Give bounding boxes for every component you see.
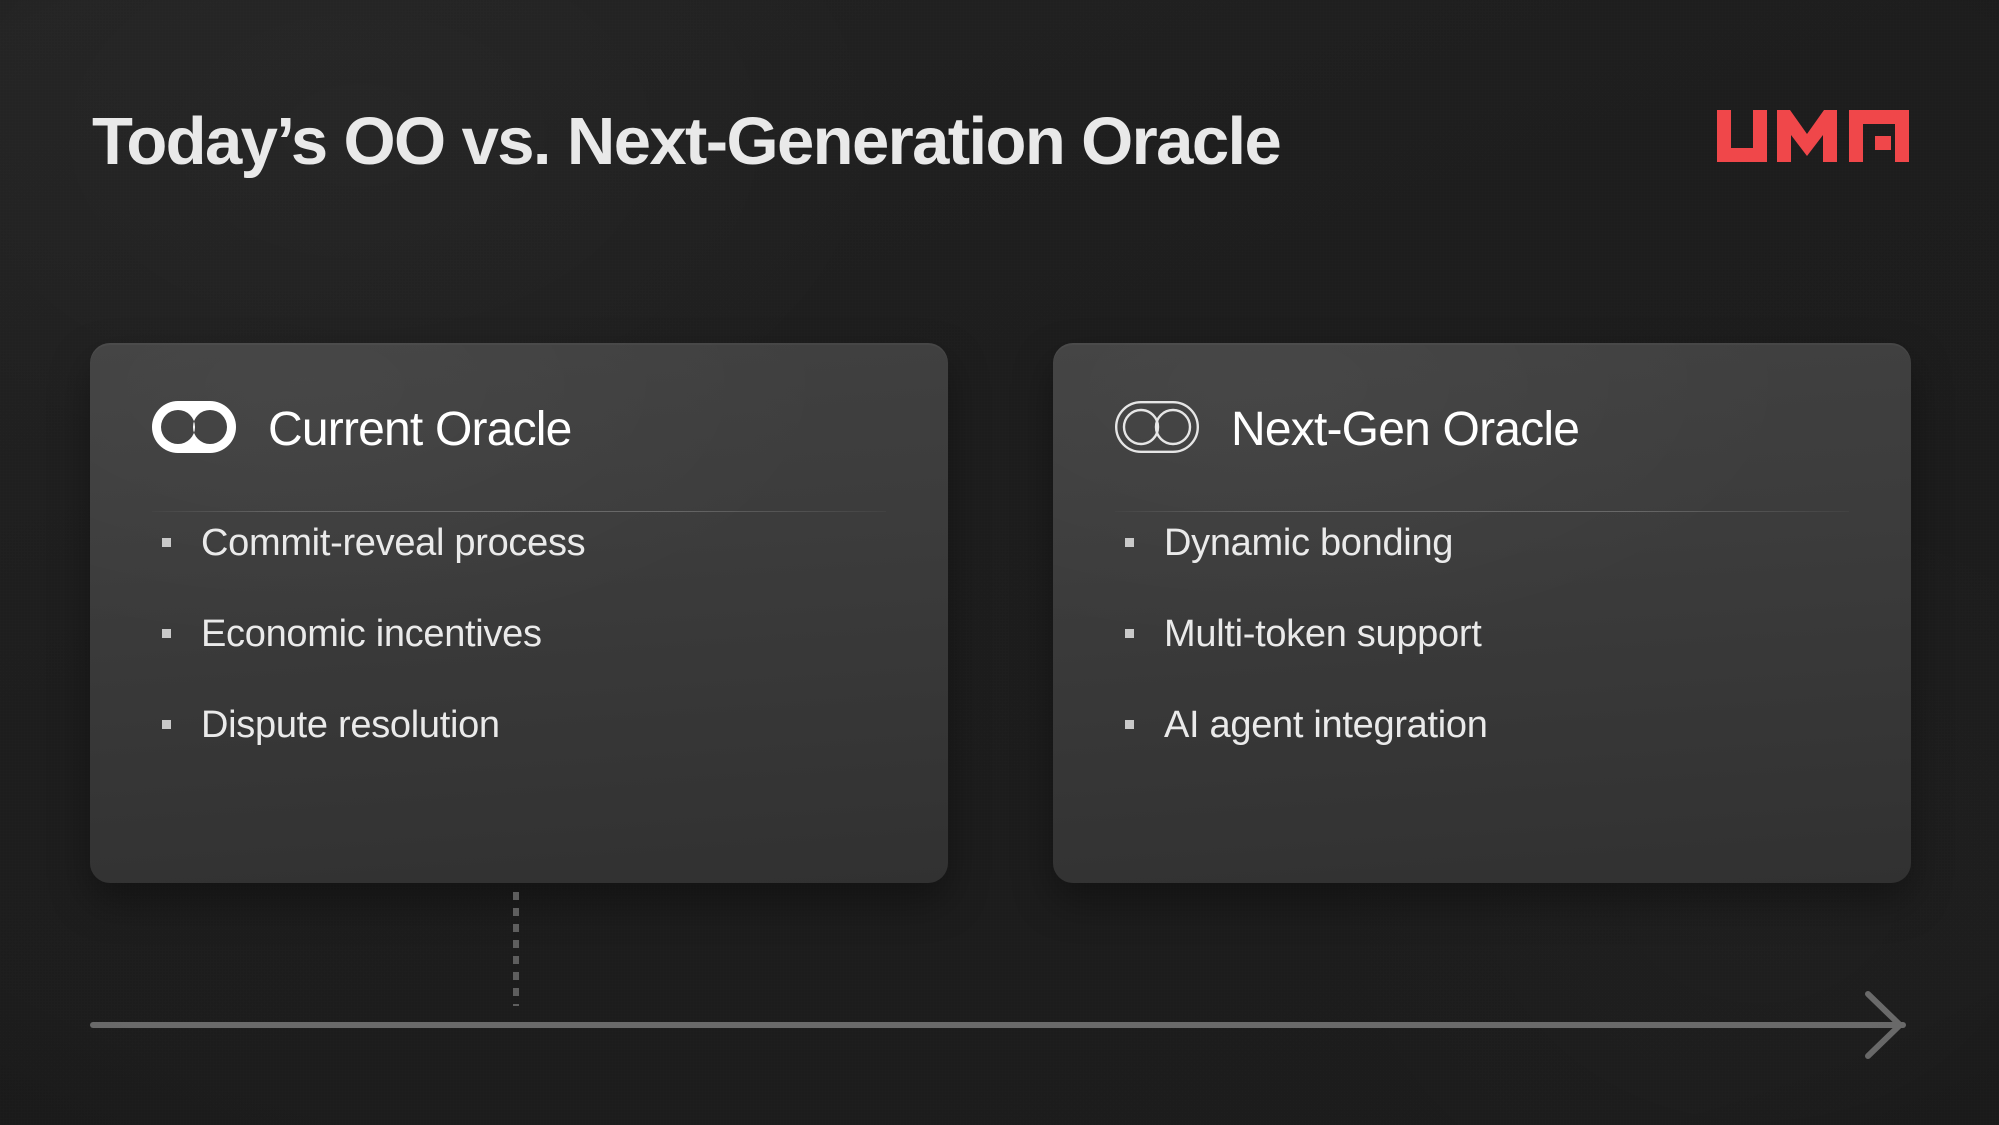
card-title: Current Oracle: [268, 402, 572, 457]
bullet-square-icon: [1125, 538, 1134, 547]
card-header: Next-Gen Oracle: [1053, 343, 1911, 458]
uma-logo: [1717, 110, 1909, 162]
list-item-label: Dynamic bonding: [1164, 522, 1453, 565]
timeline-arrow-right-icon: [1862, 988, 1908, 1062]
list-item-label: Economic incentives: [201, 613, 542, 656]
page-title: Today’s OO vs. Next-Generation Oracle: [92, 103, 1280, 180]
bullet-square-icon: [162, 538, 171, 547]
list-item: Dynamic bonding: [1125, 522, 1911, 565]
feature-list: Dynamic bonding Multi-token support AI a…: [1053, 458, 1911, 747]
uma-wordmark-logo-icon: [1717, 110, 1909, 162]
bullet-square-icon: [1125, 720, 1134, 729]
list-item: Commit-reveal process: [162, 522, 948, 565]
bullet-square-icon: [1125, 629, 1134, 638]
list-item-label: Multi-token support: [1164, 613, 1481, 656]
list-item: Multi-token support: [1125, 613, 1911, 656]
card-header: Current Oracle: [90, 343, 948, 458]
feature-list: Commit-reveal process Economic incentive…: [90, 458, 948, 747]
timeline-axis-line: [90, 1022, 1906, 1028]
vertical-dashed-connector: [513, 892, 519, 1006]
double-circle-outline-icon: [1115, 401, 1199, 458]
bullet-square-icon: [162, 629, 171, 638]
slide-canvas: Today’s OO vs. Next-Generation Oracle Cu…: [0, 0, 1999, 1125]
bullet-square-icon: [162, 720, 171, 729]
card-current-oracle[interactable]: Current Oracle Commit-reveal process Eco…: [90, 343, 948, 883]
card-next-gen-oracle[interactable]: Next-Gen Oracle Dynamic bonding Multi-to…: [1053, 343, 1911, 883]
list-item: Dispute resolution: [162, 704, 948, 747]
list-item: AI agent integration: [1125, 704, 1911, 747]
list-item: Economic incentives: [162, 613, 948, 656]
double-circle-filled-icon: [152, 401, 236, 458]
card-title: Next-Gen Oracle: [1231, 402, 1579, 457]
list-item-label: AI agent integration: [1164, 704, 1488, 747]
list-item-label: Dispute resolution: [201, 704, 500, 747]
list-item-label: Commit-reveal process: [201, 522, 585, 565]
